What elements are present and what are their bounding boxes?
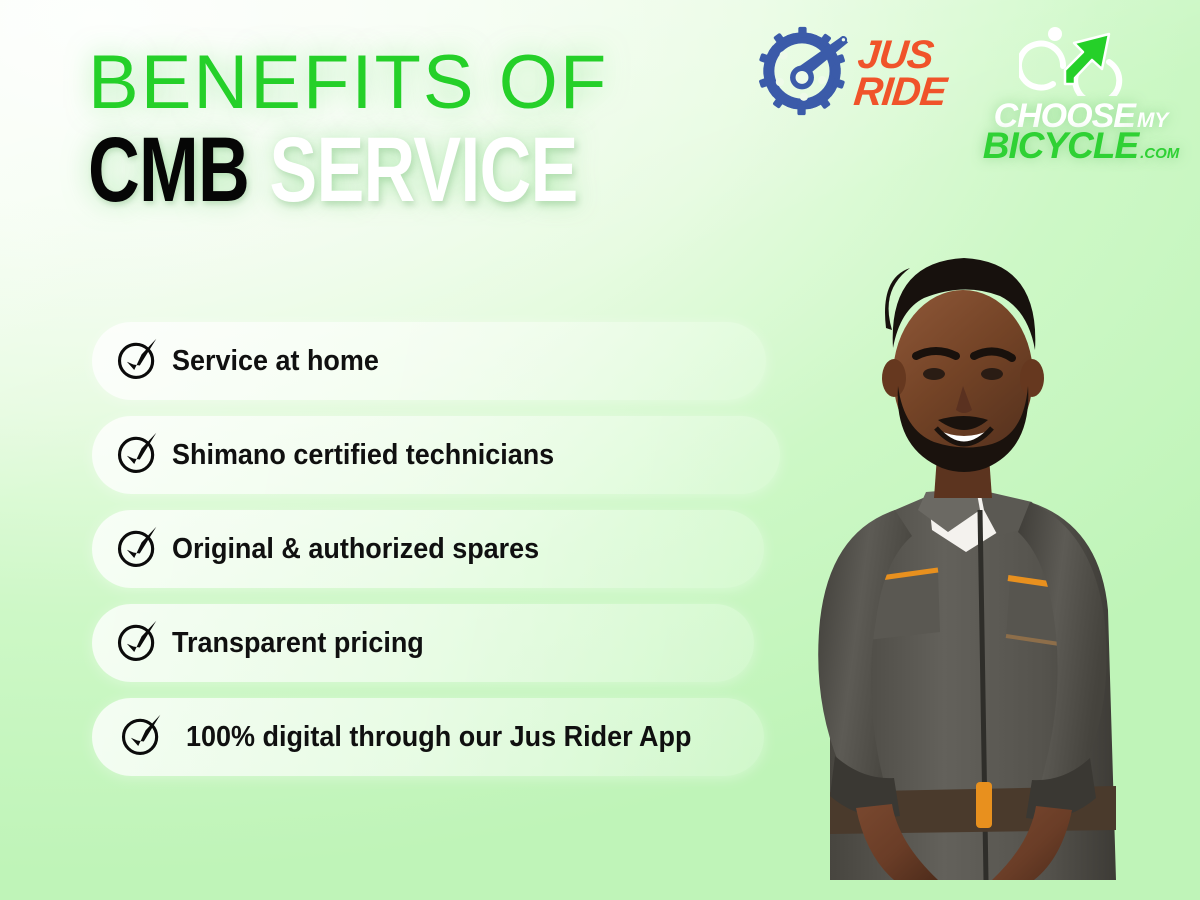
choosemybicycle-wordmark-bottom: BICYCLE .COM xyxy=(983,127,1180,164)
heading-block: BENEFITS OF CMBSERVICE xyxy=(88,46,716,216)
benefit-row-3[interactable]: Original & authorized spares xyxy=(92,510,764,588)
benefit-row-4[interactable]: Transparent pricing xyxy=(92,604,754,682)
benefit-row-2[interactable]: Shimano certified technicians xyxy=(92,416,780,494)
logo-word-bicycle: BICYCLE xyxy=(983,127,1138,164)
check-circle-icon xyxy=(114,430,160,481)
heading-line-2: CMBSERVICE xyxy=(88,124,578,216)
jusride-wordmark: JUS RIDE xyxy=(853,37,952,111)
benefit-row-1[interactable]: Service at home xyxy=(92,322,766,400)
benefit-label: Transparent pricing xyxy=(172,627,424,660)
logo-word-com: .COM xyxy=(1140,146,1179,161)
benefit-label: Original & authorized spares xyxy=(172,533,539,566)
check-circle-icon xyxy=(118,712,164,763)
jusride-line-2: RIDE xyxy=(853,74,948,111)
poster-canvas: BENEFITS OF CMBSERVICE xyxy=(0,0,1200,900)
heading-service-word: SERVICE xyxy=(269,119,577,221)
benefits-list: Service at home Shimano certified techni… xyxy=(92,322,782,792)
chainring-icon xyxy=(756,22,848,125)
benefit-label: Service at home xyxy=(172,345,379,378)
logo-row: JUS RIDE CHOOSE MY xyxy=(756,22,1176,164)
check-circle-icon xyxy=(114,336,160,387)
heading-line-1: BENEFITS OF xyxy=(88,46,716,120)
heading-brand-word: CMB xyxy=(88,119,249,221)
benefit-label: 100% digital through our Jus Rider App xyxy=(186,721,691,754)
jusride-line-1: JUS xyxy=(856,37,951,74)
benefit-row-5[interactable]: 100% digital through our Jus Rider App xyxy=(92,698,764,776)
check-circle-icon xyxy=(114,618,160,669)
benefit-label: Shimano certified technicians xyxy=(172,439,554,472)
choosemybicycle-logo[interactable]: CHOOSE MY BICYCLE .COM xyxy=(986,22,1176,164)
bicycle-arrow-icon xyxy=(1019,22,1143,101)
jusride-logo[interactable]: JUS RIDE xyxy=(756,22,948,125)
check-circle-icon xyxy=(114,524,160,575)
